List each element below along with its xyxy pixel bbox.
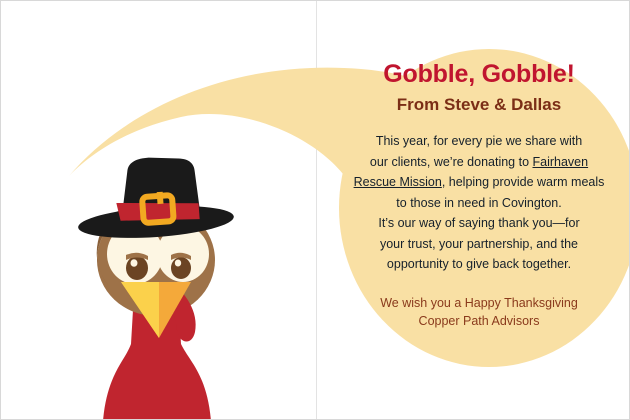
body-line-2: our clients, we’re donating to Fairhaven [341,153,617,172]
charity-link-part-2[interactable]: Rescue Mission [354,175,442,189]
card-message: Gobble, Gobble! From Steve & Dallas This… [331,53,627,331]
closing-line-1: We wish you a Happy Thanksgiving [341,294,617,313]
turkey-illustration [59,156,259,420]
turkey-right-pupil [171,257,191,279]
card-body-text: This year, for every pie we share with o… [341,132,617,274]
card-subtitle: From Steve & Dallas [331,95,627,115]
body-line-2-prefix: our clients, we’re donating to [370,155,533,169]
turkey-left-pupil [126,256,148,280]
body-line-3-suffix: , helping provide warm meals [442,175,605,189]
body-line-5: It’s our way of saying thank you—for [341,214,617,233]
turkey-left-eye-glint [131,259,138,267]
turkey-right-eye-glint [175,260,181,267]
body-line-3: Rescue Mission, helping provide warm mea… [341,173,617,192]
body-line-7: opportunity to give back together. [341,255,617,274]
body-line-6: your trust, your partnership, and the [341,235,617,254]
body-line-4: to those in need in Covington. [341,194,617,213]
closing-line-2: Copper Path Advisors [341,312,617,331]
page-title: Gobble, Gobble! [331,61,627,89]
charity-link-part-1[interactable]: Fairhaven [533,155,589,169]
greeting-card: Gobble, Gobble! From Steve & Dallas This… [0,0,630,420]
card-closing: We wish you a Happy Thanksgiving Copper … [341,294,617,332]
body-line-1: This year, for every pie we share with [341,132,617,151]
